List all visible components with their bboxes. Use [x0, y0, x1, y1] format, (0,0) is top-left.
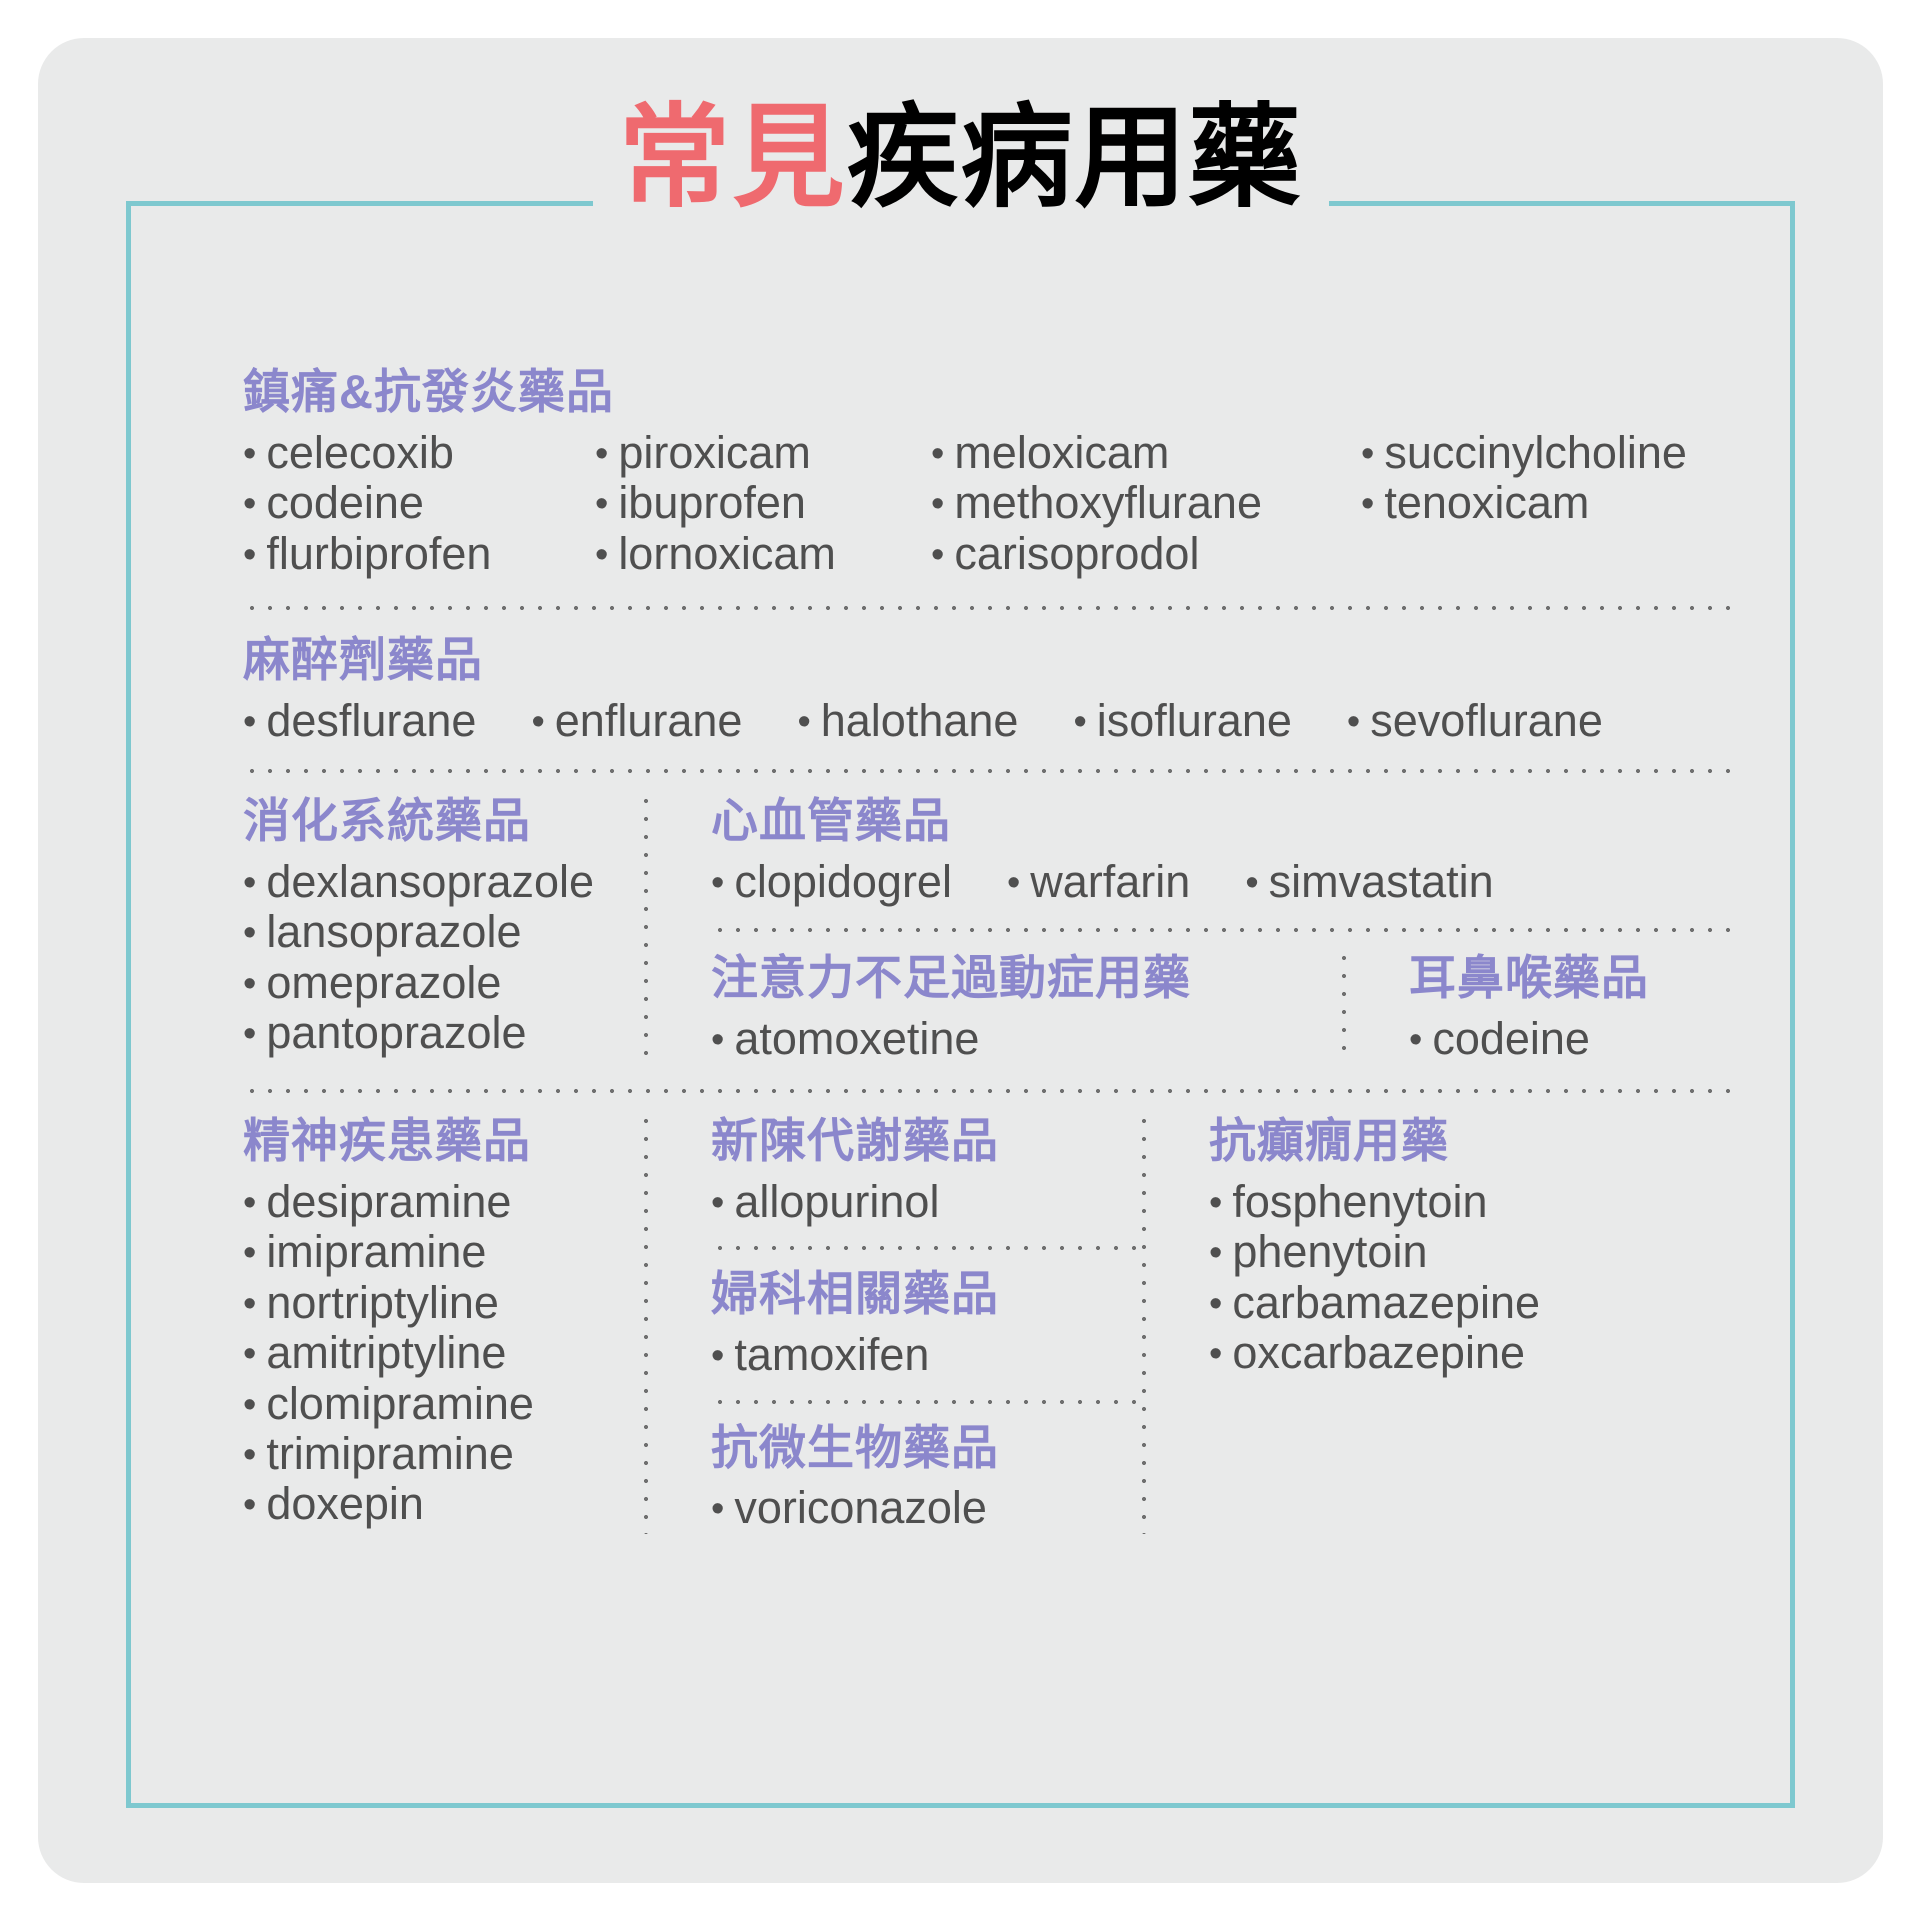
- druglist-cardiovascular: clopidogrel warfarin simvastatin: [711, 857, 1735, 907]
- list-item: imipramine: [243, 1227, 643, 1277]
- band-mid-right: 心血管藥品 clopidogrel warfarin simvastatin 注…: [649, 792, 1735, 1064]
- section-adhd: 注意力不足過動症用藥 atomoxetine: [711, 949, 1341, 1064]
- list-item: enflurane: [531, 696, 742, 746]
- druglist-adhd: atomoxetine: [711, 1014, 1341, 1064]
- list-item: dexlansoprazole: [243, 857, 643, 907]
- section-heading-anesthetic: 麻醉劑藥品: [243, 631, 1735, 690]
- section-ent: 耳鼻喉藥品 codeine: [1347, 949, 1735, 1064]
- content-area: 鎮痛&抗發炎藥品 celecoxib piroxicam meloxicam s…: [243, 363, 1735, 1733]
- list-item: flurbiprofen: [243, 529, 595, 579]
- list-item: amitriptyline: [243, 1328, 643, 1378]
- section-cardiovascular: 心血管藥品 clopidogrel warfarin simvastatin: [711, 792, 1735, 907]
- list-item: pantoprazole: [243, 1008, 643, 1058]
- divider-horizontal: [711, 927, 1735, 933]
- druglist-antimicrobial: voriconazole: [711, 1483, 1141, 1533]
- section-antimicrobial: 抗微生物藥品 voriconazole: [711, 1419, 1141, 1534]
- list-item: piroxicam: [595, 428, 931, 478]
- section-heading-antimicrobial: 抗微生物藥品: [711, 1419, 1141, 1478]
- section-anesthetic: 麻醉劑藥品 desflurane enflurane halothane iso…: [243, 611, 1735, 746]
- druglist-gynecology: tamoxifen: [711, 1330, 1141, 1380]
- druglist-ent: codeine: [1409, 1014, 1735, 1064]
- section-heading-psychiatric: 精神疾患藥品: [243, 1112, 643, 1171]
- druglist-digestive: dexlansoprazole lansoprazole omeprazole …: [243, 857, 643, 1059]
- list-item: halothane: [797, 696, 1018, 746]
- section-heading-gynecology: 婦科相關藥品: [711, 1265, 1141, 1324]
- list-item: tamoxifen: [711, 1330, 1141, 1380]
- list-item: trimipramine: [243, 1429, 643, 1479]
- list-item: ibuprofen: [595, 478, 931, 528]
- divider-horizontal: [711, 1245, 1141, 1251]
- list-item: doxepin: [243, 1479, 643, 1529]
- list-item: allopurinol: [711, 1177, 1141, 1227]
- list-item: clomipramine: [243, 1379, 643, 1429]
- list-item: nortriptyline: [243, 1278, 643, 1328]
- divider-horizontal: [711, 1399, 1141, 1405]
- section-gynecology: 婦科相關藥品 tamoxifen: [711, 1265, 1141, 1380]
- section-heading-cardiovascular: 心血管藥品: [711, 792, 1735, 851]
- list-item: carbamazepine: [1209, 1278, 1735, 1328]
- list-item: atomoxetine: [711, 1014, 1341, 1064]
- section-heading-analgesic: 鎮痛&抗發炎藥品: [243, 363, 1735, 422]
- druglist-antiepileptic: fosphenytoin phenytoin carbamazepine oxc…: [1209, 1177, 1735, 1379]
- band-bottom: 精神疾患藥品 desipramine imipramine nortriptyl…: [243, 1112, 1735, 1533]
- list-item: carisoprodol: [931, 529, 1361, 579]
- band-mid: 消化系統藥品 dexlansoprazole lansoprazole omep…: [243, 792, 1735, 1064]
- list-item: omeprazole: [243, 958, 643, 1008]
- druglist-analgesic: celecoxib piroxicam meloxicam succinylch…: [243, 428, 1735, 579]
- list-item: desflurane: [243, 696, 476, 746]
- band-adhd-ent: 注意力不足過動症用藥 atomoxetine 耳鼻喉藥品 codeine: [711, 949, 1735, 1064]
- infographic-page: 常見疾病用藥 鎮痛&抗發炎藥品 celecoxib piroxicam melo…: [0, 0, 1921, 1921]
- list-item: sevoflurane: [1347, 696, 1603, 746]
- section-psychiatric: 精神疾患藥品 desipramine imipramine nortriptyl…: [243, 1112, 643, 1533]
- band-bottom-middle: 新陳代謝藥品 allopurinol 婦科相關藥品 tamoxifen: [649, 1112, 1141, 1533]
- list-item: methoxyflurane: [931, 478, 1361, 528]
- druglist-anesthetic: desflurane enflurane halothane isofluran…: [243, 696, 1735, 746]
- list-item: warfarin: [1007, 857, 1190, 907]
- list-item: isoflurane: [1073, 696, 1291, 746]
- druglist-metabolic: allopurinol: [711, 1177, 1141, 1227]
- infographic-card: 常見疾病用藥 鎮痛&抗發炎藥品 celecoxib piroxicam melo…: [38, 38, 1883, 1883]
- list-item: codeine: [1409, 1014, 1735, 1064]
- list-item: tenoxicam: [1361, 478, 1735, 528]
- list-item: desipramine: [243, 1177, 643, 1227]
- section-heading-metabolic: 新陳代謝藥品: [711, 1112, 1141, 1171]
- list-item: succinylcholine: [1361, 428, 1735, 478]
- section-heading-digestive: 消化系統藥品: [243, 792, 643, 851]
- list-item: clopidogrel: [711, 857, 952, 907]
- section-heading-antiepileptic: 抗癲癇用藥: [1209, 1112, 1735, 1171]
- list-item: lornoxicam: [595, 529, 931, 579]
- list-item: meloxicam: [931, 428, 1361, 478]
- list-item: celecoxib: [243, 428, 595, 478]
- section-analgesic: 鎮痛&抗發炎藥品 celecoxib piroxicam meloxicam s…: [243, 363, 1735, 579]
- list-item: fosphenytoin: [1209, 1177, 1735, 1227]
- list-item: lansoprazole: [243, 907, 643, 957]
- section-heading-ent: 耳鼻喉藥品: [1409, 949, 1735, 1008]
- divider-horizontal: [243, 1088, 1735, 1094]
- list-item: voriconazole: [711, 1483, 1141, 1533]
- section-heading-adhd: 注意力不足過動症用藥: [711, 949, 1341, 1008]
- section-metabolic: 新陳代謝藥品 allopurinol: [711, 1112, 1141, 1227]
- list-item: simvastatin: [1245, 857, 1493, 907]
- section-digestive: 消化系統藥品 dexlansoprazole lansoprazole omep…: [243, 792, 643, 1064]
- list-item: oxcarbazepine: [1209, 1328, 1735, 1378]
- divider-horizontal: [243, 768, 1735, 774]
- druglist-psychiatric: desipramine imipramine nortriptyline ami…: [243, 1177, 643, 1530]
- list-item: phenytoin: [1209, 1227, 1735, 1277]
- list-item: codeine: [243, 478, 595, 528]
- section-antiepileptic: 抗癲癇用藥 fosphenytoin phenytoin carbamazepi…: [1147, 1112, 1735, 1533]
